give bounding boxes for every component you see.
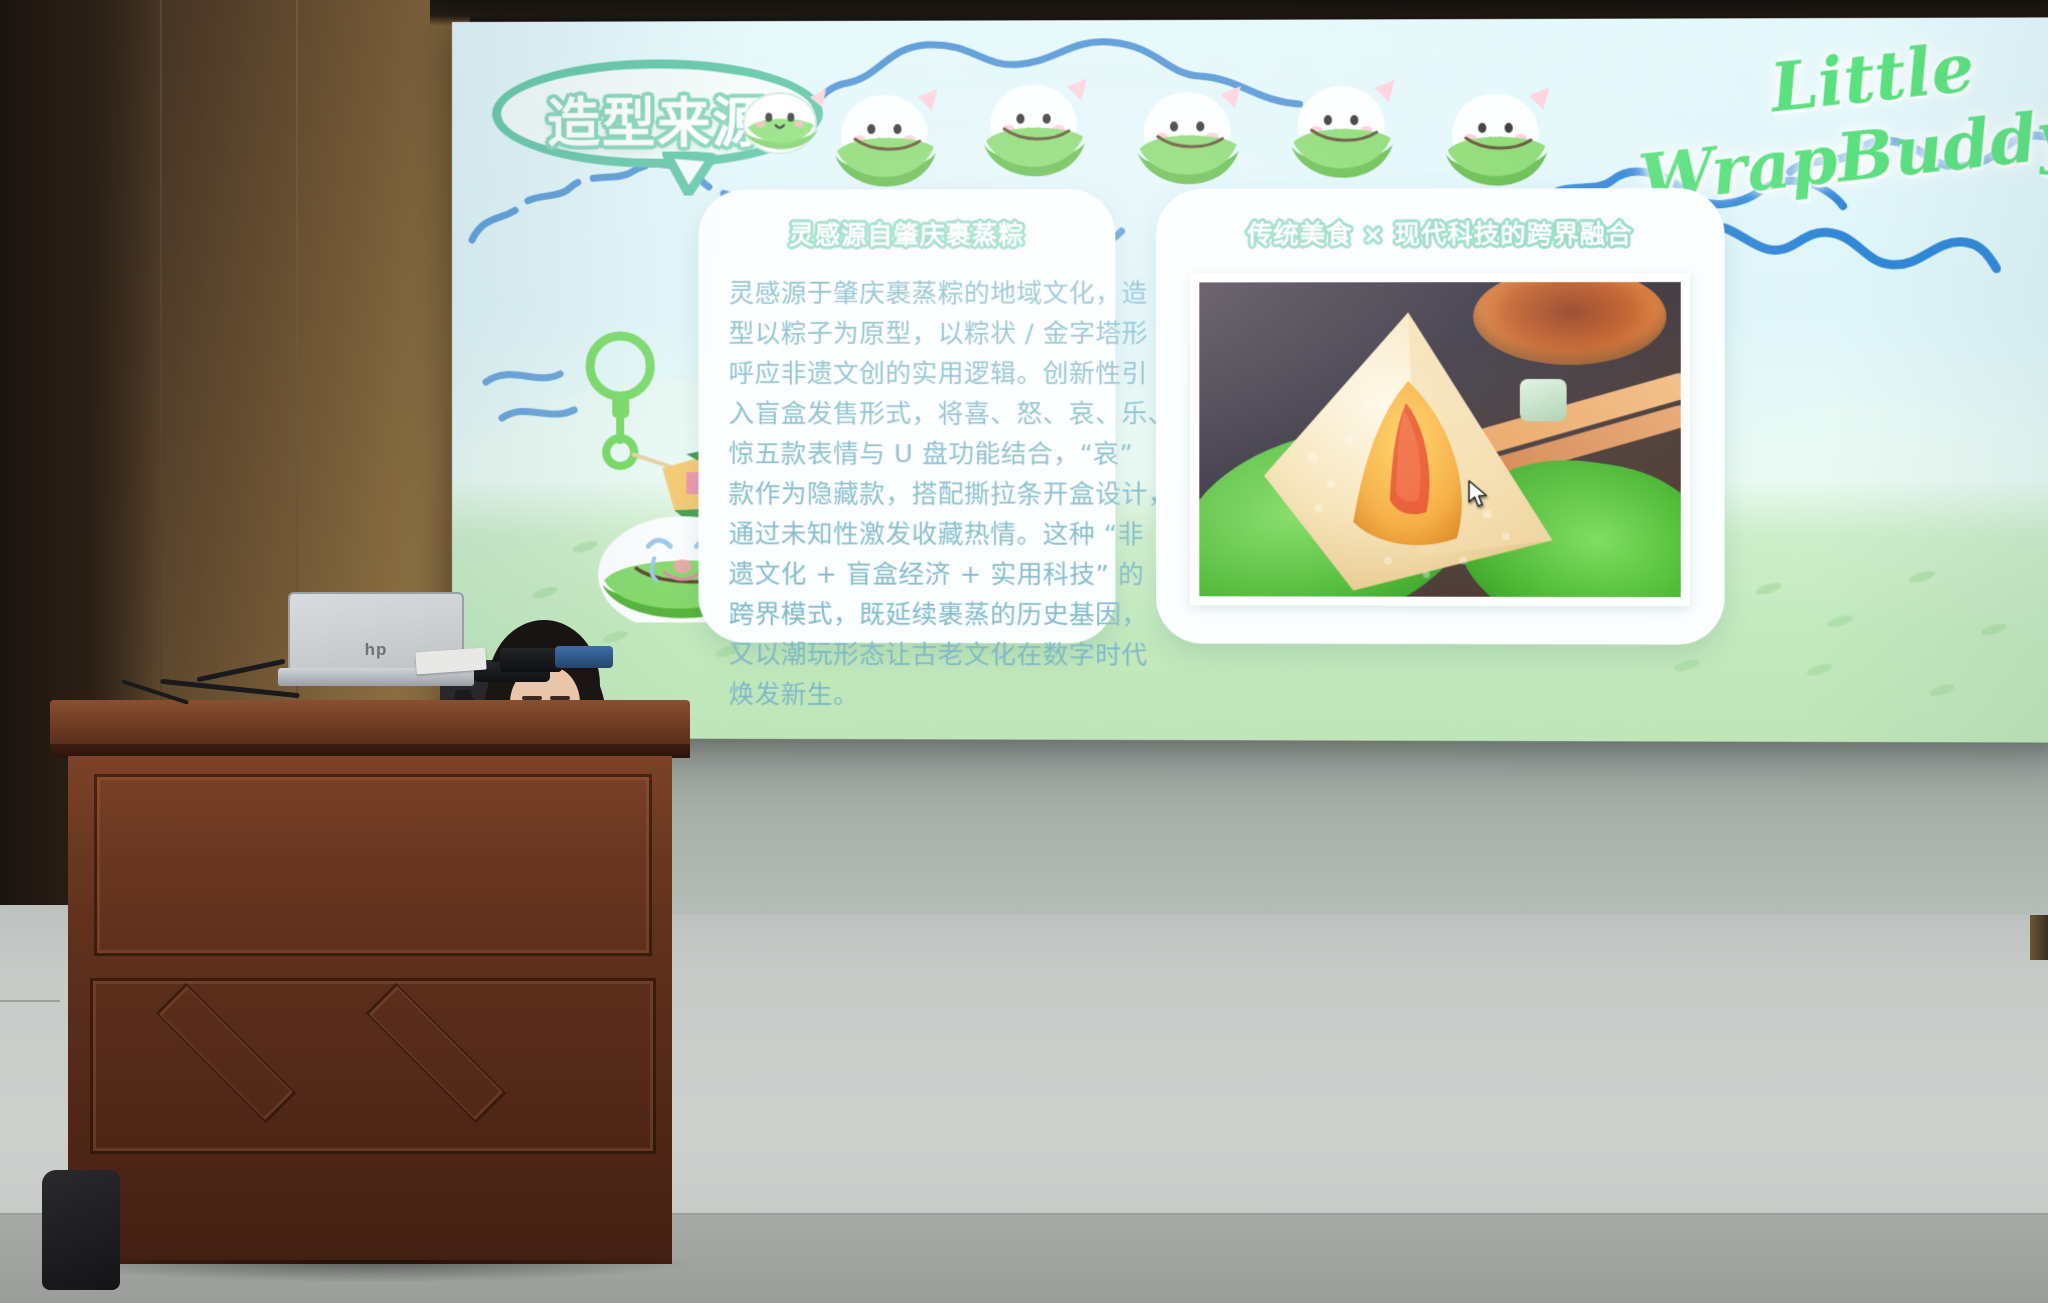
title-bubble-tail (662, 152, 718, 196)
desk-shadow (50, 1260, 690, 1282)
fusion-card: 传统美食 × 现代科技的跨界融合 (1156, 188, 1725, 645)
body-line: 焕发新生。 (729, 675, 1086, 716)
body-line: 跨界模式，既延续裹蒸的历史基因， (729, 594, 1086, 635)
body-line: 呼应非遗文创的实用逻辑。创新性引 (729, 354, 1086, 394)
zongzi-mascot-icon (736, 87, 828, 165)
laptop[interactable]: hp (278, 592, 478, 700)
inspiration-card: 灵感源自肇庆裹蒸粽 灵感源于肇庆裹蒸粽的地域文化，造 型以粽子为原型，以粽状 /… (698, 189, 1115, 643)
black-device[interactable] (500, 648, 562, 672)
blue-device[interactable] (555, 646, 613, 668)
zongzi-mascot (974, 78, 1093, 201)
body-line: 灵感源于肇庆裹蒸粽的地域文化，造 (729, 273, 1086, 313)
inspiration-card-heading: 灵感源自肇庆裹蒸粽 (698, 215, 1115, 252)
inspiration-card-body: 灵感源于肇庆裹蒸粽的地域文化，造 型以粽子为原型，以粽状 / 金字塔形 呼应非遗… (729, 273, 1086, 715)
body-line: 惊五款表情与 U 盘功能结合，“哀” (729, 434, 1086, 474)
body-line: 型以粽子为原型，以粽状 / 金字塔形 (729, 314, 1086, 354)
desk-front-panel (68, 756, 672, 970)
body-line: 又以潮玩形态让古老文化在数字时代 (729, 635, 1086, 676)
desk-top (50, 700, 690, 750)
slide-title-bubble: 造型来源 (492, 59, 823, 190)
photo-zongzi (1256, 306, 1561, 597)
presenter-desk (50, 700, 690, 1270)
projection-screen: 造型来源 Little WrapBuddy (452, 17, 2048, 742)
laptop-brand-logo: hp (365, 640, 388, 660)
zongzi-mascot (1281, 80, 1401, 203)
bag-on-floor (42, 1170, 120, 1290)
zongzi-photo-frame (1190, 273, 1690, 606)
body-line: 入盲盒发售形式，将喜、怒、哀、乐、 (729, 394, 1086, 434)
body-line: 遗文化 + 盲盒经济 + 实用科技” 的 (729, 554, 1086, 595)
desk-lower-panel (68, 964, 672, 1264)
body-line: 款作为隐藏款，搭配撕拉条开盒设计， (729, 474, 1086, 514)
screenshot-stage: 造型来源 Little WrapBuddy (0, 0, 2048, 1303)
body-line: 通过未知性激发收藏热情。这种 “非 (729, 514, 1086, 555)
zongzi-photo (1199, 282, 1680, 597)
fusion-card-heading: 传统美食 × 现代科技的跨界融合 (1156, 214, 1725, 251)
